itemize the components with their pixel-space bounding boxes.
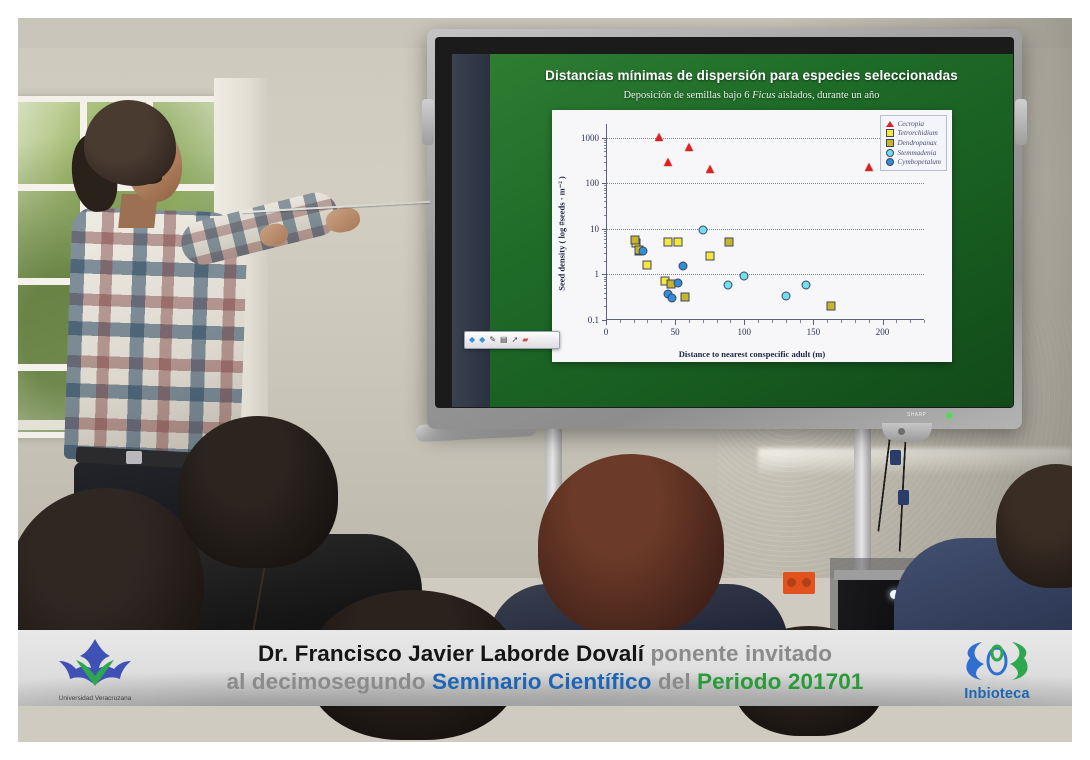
x-tick-label: 0 bbox=[604, 327, 609, 337]
prev-arrow-icon[interactable]: ◆ bbox=[469, 336, 475, 344]
universidad-veracruzana-logo: Universidad Veracruzana bbox=[36, 636, 154, 702]
wall-outlet bbox=[783, 572, 815, 594]
x-minor-tick bbox=[717, 320, 718, 323]
cable-clip bbox=[890, 450, 901, 465]
data-point bbox=[679, 262, 688, 271]
presenter-hair bbox=[84, 100, 176, 186]
data-point bbox=[865, 163, 873, 171]
data-point bbox=[668, 294, 677, 303]
gridline bbox=[606, 183, 924, 184]
x-minor-tick bbox=[758, 320, 759, 323]
legend-marker bbox=[884, 158, 895, 166]
subtitle-pre: Deposición de semillas bajo 6 bbox=[623, 90, 752, 101]
banner-line-2: al decimosegundo Seminario Científico de… bbox=[226, 669, 863, 695]
x-minor-tick bbox=[869, 320, 870, 323]
legend-label: Stemmadenia bbox=[897, 149, 936, 157]
display-power-led bbox=[947, 413, 952, 418]
pen-icon[interactable]: ✎ bbox=[489, 336, 496, 344]
y-minor-tick bbox=[604, 243, 608, 244]
banner-segment-0: Dr. Francisco Javier Laborde Dovalí bbox=[258, 641, 644, 666]
presentation-slide: Distancias mínimas de dispersión para es… bbox=[490, 54, 1013, 407]
y-minor-tick bbox=[604, 201, 608, 202]
screen-letterbox bbox=[452, 54, 490, 407]
interactive-whiteboard[interactable]: Distancias mínimas de dispersión para es… bbox=[427, 29, 1022, 429]
slide-title: Distancias mínimas de dispersión para es… bbox=[490, 68, 1013, 83]
board-screen[interactable]: Distancias mínimas de dispersión para es… bbox=[452, 54, 1013, 407]
y-tick-label: 100 bbox=[586, 178, 600, 188]
data-point bbox=[705, 251, 714, 260]
y-minor-tick bbox=[604, 288, 608, 289]
y-tick-label: 0.1 bbox=[588, 315, 599, 325]
data-point bbox=[664, 158, 672, 166]
smartboard-toolbar[interactable]: ◆◆✎▤➚▰ bbox=[464, 331, 560, 349]
event-banner: Dr. Francisco Javier Laborde Dovalí pone… bbox=[18, 630, 1072, 706]
x-minor-tick bbox=[661, 320, 662, 323]
data-point bbox=[725, 238, 734, 247]
y-minor-tick bbox=[604, 239, 608, 240]
y-minor-tick bbox=[604, 170, 608, 171]
y-minor-tick bbox=[604, 190, 608, 191]
x-tick-label: 200 bbox=[876, 327, 890, 337]
subtitle-post: aislados, durante un año bbox=[775, 90, 879, 101]
x-tick bbox=[675, 320, 676, 325]
audience-head bbox=[538, 454, 724, 636]
y-minor-tick bbox=[604, 188, 608, 189]
x-minor-tick bbox=[800, 320, 801, 323]
x-tick bbox=[813, 320, 814, 325]
slide-subtitle: Deposición de semillas bajo 6 Ficus aisl… bbox=[490, 90, 1013, 101]
x-minor-tick bbox=[634, 320, 635, 323]
legend-marker bbox=[884, 129, 895, 137]
y-minor-tick bbox=[604, 236, 608, 237]
y-minor-tick bbox=[604, 207, 608, 208]
y-minor-tick bbox=[604, 293, 608, 294]
keyboard-icon[interactable]: ▤ bbox=[500, 336, 508, 344]
legend-marker bbox=[884, 121, 895, 127]
y-minor-tick bbox=[604, 193, 608, 194]
x-minor-tick bbox=[924, 320, 925, 323]
data-point bbox=[802, 280, 811, 289]
x-minor-tick bbox=[730, 320, 731, 323]
banner-segment-3: Periodo 201701 bbox=[697, 669, 864, 694]
legend-label: Cymbopetalum bbox=[897, 158, 941, 166]
banner-text: Dr. Francisco Javier Laborde Dovalí pone… bbox=[168, 630, 922, 706]
eraser-icon[interactable]: ▰ bbox=[522, 336, 528, 344]
gridline bbox=[606, 274, 924, 275]
board-side-tab bbox=[1015, 99, 1027, 145]
legend-item: Cymbopetalum bbox=[884, 157, 941, 167]
data-point bbox=[673, 278, 682, 287]
y-tick bbox=[602, 229, 607, 230]
legend-label: Tetrorchidium bbox=[897, 129, 937, 137]
photograph: Distancias mínimas de dispersión para es… bbox=[0, 0, 1090, 760]
data-point bbox=[664, 237, 673, 246]
legend-item: Dendropanax bbox=[884, 138, 941, 148]
y-minor-tick bbox=[604, 162, 608, 163]
data-point bbox=[643, 261, 652, 270]
presenter-belt-buckle bbox=[126, 451, 142, 464]
y-minor-tick bbox=[604, 261, 608, 262]
y-minor-tick bbox=[604, 281, 608, 282]
y-axis-label-text: Seed density ( log #seeds · m⁻² ) bbox=[557, 176, 568, 290]
legend-marker bbox=[884, 149, 895, 157]
x-minor-tick bbox=[910, 320, 911, 323]
inbioteca-emblem-icon bbox=[938, 636, 1056, 682]
data-point bbox=[631, 236, 640, 245]
y-tick-label: 1 bbox=[595, 269, 600, 279]
y-minor-tick bbox=[604, 151, 608, 152]
board-bezel: Distancias mínimas de dispersión para es… bbox=[435, 37, 1014, 408]
data-point bbox=[655, 133, 663, 141]
ir-sensor-pod bbox=[882, 423, 932, 442]
inbioteca-logo-caption: Inbioteca bbox=[938, 686, 1056, 702]
y-minor-tick bbox=[604, 298, 608, 299]
data-point bbox=[673, 238, 682, 247]
y-minor-tick bbox=[604, 148, 608, 149]
y-minor-tick bbox=[604, 140, 608, 141]
y-minor-tick bbox=[604, 145, 608, 146]
x-minor-tick bbox=[620, 320, 621, 323]
x-tick-label: 100 bbox=[738, 327, 752, 337]
uv-emblem-icon bbox=[36, 636, 154, 692]
plot-area: 0.11101001000050100150200 bbox=[606, 124, 924, 320]
y-tick bbox=[602, 183, 607, 184]
x-minor-tick bbox=[786, 320, 787, 323]
legend-item: Tetrorchidium bbox=[884, 129, 941, 139]
banner-segment-1: ponente invitado bbox=[644, 641, 832, 666]
uv-logo-caption: Universidad Veracruzana bbox=[36, 695, 154, 702]
data-point bbox=[680, 292, 689, 301]
legend-label: Dendropanax bbox=[897, 139, 936, 147]
y-minor-tick bbox=[604, 185, 608, 186]
y-minor-tick bbox=[604, 197, 608, 198]
y-minor-tick bbox=[604, 247, 608, 248]
display-brand-label: SHARP bbox=[907, 412, 926, 418]
x-tick-label: 50 bbox=[671, 327, 680, 337]
y-minor-tick bbox=[604, 215, 608, 216]
data-point bbox=[698, 225, 707, 234]
chart-legend: CecropiaTetrorchidiumDendropanaxStemmade… bbox=[880, 115, 947, 171]
audience-head bbox=[178, 416, 338, 568]
x-minor-tick bbox=[841, 320, 842, 323]
y-tick-label: 10 bbox=[590, 224, 599, 234]
data-point bbox=[781, 292, 790, 301]
data-point bbox=[740, 271, 749, 280]
x-minor-tick bbox=[896, 320, 897, 323]
plot-frame bbox=[606, 124, 924, 320]
y-minor-tick bbox=[604, 231, 608, 232]
legend-item: Cecropia bbox=[884, 119, 941, 129]
x-minor-tick bbox=[772, 320, 773, 323]
pointer-icon[interactable]: ➚ bbox=[512, 336, 519, 344]
data-point bbox=[639, 247, 648, 256]
inbioteca-logo: Inbioteca bbox=[938, 636, 1056, 702]
x-tick bbox=[744, 320, 745, 325]
y-minor-tick bbox=[604, 285, 608, 286]
banner-segment-2: del bbox=[652, 669, 698, 694]
y-tick-label: 1000 bbox=[581, 133, 599, 143]
y-minor-tick bbox=[604, 253, 608, 254]
y-minor-tick bbox=[604, 233, 608, 234]
x-minor-tick bbox=[703, 320, 704, 323]
subtitle-italic: Ficus bbox=[752, 90, 775, 101]
y-minor-tick bbox=[604, 142, 608, 143]
x-minor-tick bbox=[855, 320, 856, 323]
y-axis-label: Seed density ( log #seeds · m⁻² ) bbox=[555, 138, 569, 328]
plot-inner: Seed density ( log #seeds · m⁻² ) Distan… bbox=[552, 110, 952, 362]
cable-clip bbox=[898, 490, 909, 505]
legend-marker bbox=[884, 139, 895, 147]
x-tick-label: 150 bbox=[807, 327, 821, 337]
banner-segment-1: Seminario Científico bbox=[432, 669, 652, 694]
x-tick bbox=[606, 320, 607, 325]
legend-label: Cecropia bbox=[897, 120, 923, 128]
scatter-plot: Seed density ( log #seeds · m⁻² ) Distan… bbox=[552, 110, 952, 362]
x-axis-label: Distance to nearest conspecific adult (m… bbox=[552, 349, 952, 359]
y-minor-tick bbox=[604, 279, 608, 280]
board-side-tab bbox=[422, 99, 434, 145]
data-point bbox=[706, 165, 714, 173]
banner-segment-0: al decimosegundo bbox=[226, 669, 432, 694]
gridline bbox=[606, 229, 924, 230]
x-tick bbox=[883, 320, 884, 325]
y-minor-tick bbox=[604, 277, 608, 278]
y-tick bbox=[602, 274, 607, 275]
legend-item: Stemmadenia bbox=[884, 148, 941, 158]
y-minor-tick bbox=[604, 306, 608, 307]
y-tick bbox=[602, 138, 607, 139]
data-point bbox=[827, 302, 836, 311]
x-minor-tick bbox=[827, 320, 828, 323]
next-arrow-icon[interactable]: ◆ bbox=[479, 336, 485, 344]
data-point bbox=[685, 143, 693, 151]
x-minor-tick bbox=[689, 320, 690, 323]
data-point bbox=[723, 281, 732, 290]
banner-line-1: Dr. Francisco Javier Laborde Dovalí pone… bbox=[258, 641, 832, 667]
y-minor-tick bbox=[604, 156, 608, 157]
x-minor-tick bbox=[647, 320, 648, 323]
